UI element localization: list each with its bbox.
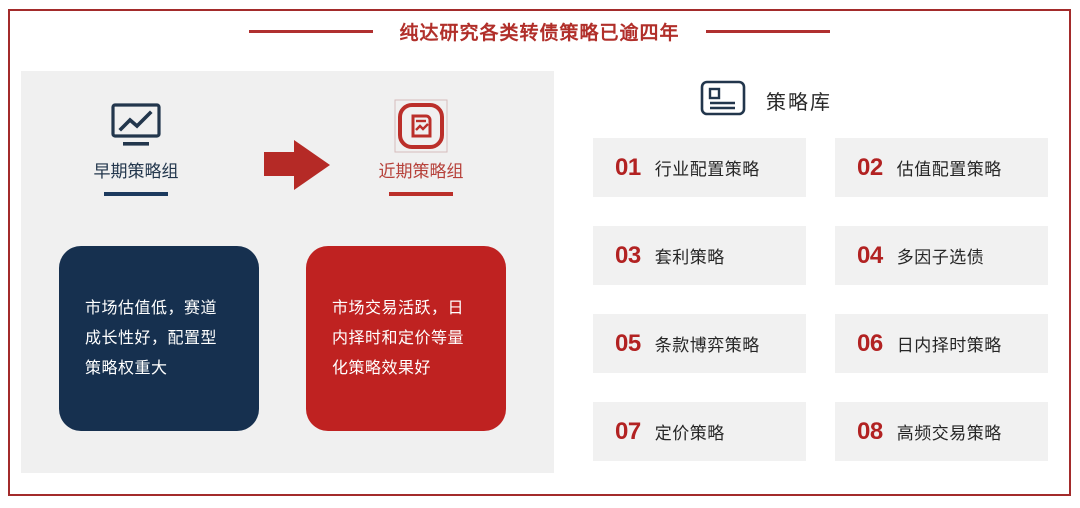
strategy-tile[interactable]: 04 多因子选债 — [835, 226, 1048, 285]
strategy-tile-number: 03 — [615, 242, 641, 270]
monitor-line-chart-icon — [56, 95, 216, 157]
arrow-head — [294, 140, 330, 190]
description-card-recent: 市场交易活跃，日内择时和定价等量化策略效果好 — [306, 246, 506, 431]
title-bar: 纯达研究各类转债策略已逾四年 — [8, 9, 1071, 54]
arrow-tail — [264, 152, 298, 176]
description-cards: 市场估值低，赛道成长性好，配置型策略权重大 市场交易活跃，日内择时和定价等量化策… — [21, 246, 554, 446]
strategy-tile-label: 定价策略 — [655, 419, 725, 444]
strategy-tile-number: 04 — [857, 242, 883, 270]
id-card-icon — [700, 80, 746, 121]
right-arrow-icon — [264, 140, 334, 192]
strategy-tile-number: 05 — [615, 330, 641, 358]
right-panel: 策略库 01 行业配置策略 02 估值配置策略 03 套利策略 04 多因子选债… — [580, 71, 1058, 473]
strategy-tile-label: 条款博弈策略 — [655, 331, 760, 356]
strategy-tile[interactable]: 02 估值配置策略 — [835, 138, 1048, 197]
strategy-tile-number: 06 — [857, 330, 883, 358]
flow-underline-recent — [389, 192, 453, 196]
strategy-tiles: 01 行业配置策略 02 估值配置策略 03 套利策略 04 多因子选债 05 … — [593, 138, 1048, 461]
flow-label-early: 早期策略组 — [56, 161, 216, 183]
strategy-tile-label: 套利策略 — [655, 243, 725, 268]
description-text-early: 市场估值低，赛道成长性好，配置型策略权重大 — [85, 294, 233, 384]
page-title: 纯达研究各类转债策略已逾四年 — [399, 18, 679, 45]
title-rule-right — [706, 30, 830, 33]
strategy-tile-number: 02 — [857, 154, 883, 182]
strategy-tile[interactable]: 05 条款博弈策略 — [593, 314, 806, 373]
strategy-tile[interactable]: 01 行业配置策略 — [593, 138, 806, 197]
flow-label-recent: 近期策略组 — [341, 161, 501, 183]
flow-item-recent[interactable]: 近期策略组 — [341, 95, 501, 196]
strategy-tile[interactable]: 08 高频交易策略 — [835, 402, 1048, 461]
strategy-tile-number: 01 — [615, 154, 641, 182]
description-card-early: 市场估值低，赛道成长性好，配置型策略权重大 — [59, 246, 259, 431]
left-panel: 早期策略组 近期策略组 — [21, 71, 554, 473]
strategy-library-title: 策略库 — [766, 86, 832, 115]
strategy-library-header: 策略库 — [700, 80, 832, 121]
strategy-group-flow: 早期策略组 近期策略组 — [21, 95, 554, 225]
strategy-tile-label: 行业配置策略 — [655, 155, 760, 180]
flow-item-early[interactable]: 早期策略组 — [56, 95, 216, 196]
title-rule-left — [249, 30, 373, 33]
strategy-tile-label: 日内择时策略 — [897, 331, 1002, 356]
strategy-tile-label: 估值配置策略 — [897, 155, 1002, 180]
strategy-tile[interactable]: 07 定价策略 — [593, 402, 806, 461]
strategy-tile[interactable]: 06 日内择时策略 — [835, 314, 1048, 373]
strategy-tile[interactable]: 03 套利策略 — [593, 226, 806, 285]
slide-root: 纯达研究各类转债策略已逾四年 早期策略组 — [0, 0, 1080, 508]
description-text-recent: 市场交易活跃，日内择时和定价等量化策略效果好 — [332, 294, 480, 384]
strategy-tile-label: 多因子选债 — [897, 243, 985, 268]
strategy-tile-number: 08 — [857, 418, 883, 446]
document-chart-icon — [341, 95, 501, 157]
strategy-tile-number: 07 — [615, 418, 641, 446]
flow-underline-early — [104, 192, 168, 196]
strategy-tile-label: 高频交易策略 — [897, 419, 1002, 444]
